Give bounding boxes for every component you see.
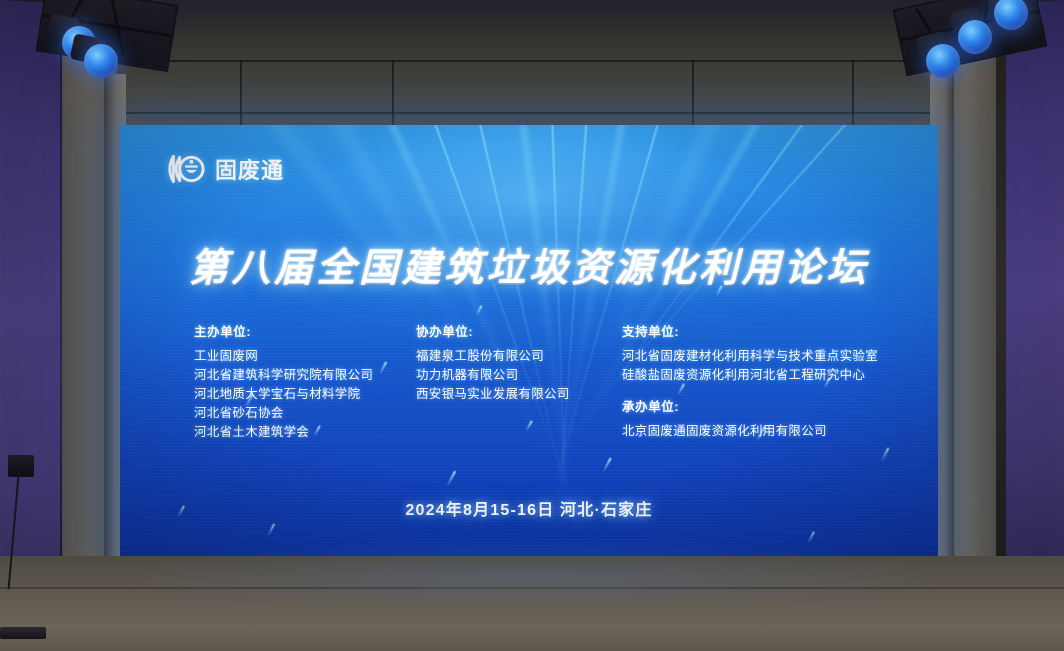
event-logo: 固废通 [164, 151, 284, 187]
column-co-organizers: 协办单位: 福建泉工股份有限公司 功力机器有限公司 西安银马实业发展有限公司 [416, 321, 622, 442]
particle-spark [881, 447, 890, 461]
right-wall [996, 0, 1064, 604]
par-light-left-2 [84, 44, 118, 78]
column-heading: 支持单位: [622, 321, 884, 340]
column-supporters: 支持单位: 河北省固废建材化利用科学与技术重点实验室 硅酸盐固废资源化利用河北省… [622, 321, 884, 442]
column-organizers: 主办单位: 工业固废网 河北省建筑科学研究院有限公司 河北地质大学宝石与材料学院… [194, 321, 416, 442]
list-item: 福建泉工股份有限公司 [416, 347, 622, 366]
list-item: 北京固废通固废资源化利用有限公司 [622, 422, 884, 441]
list-item: 西安银马实业发展有限公司 [416, 385, 622, 404]
floor-equipment [0, 627, 46, 639]
wall-mounted-device [8, 455, 34, 477]
par-light-right-3 [926, 44, 960, 78]
sponsor-columns: 主办单位: 工业固废网 河北省建筑科学研究院有限公司 河北地质大学宝石与材料学院… [194, 321, 884, 442]
list-item: 功力机器有限公司 [416, 366, 622, 385]
led-screen-background: 固废通 第八届全国建筑垃圾资源化利用论坛 主办单位: 工业固废网 河北省建筑科学… [120, 125, 938, 572]
column-heading: 主办单位: [194, 321, 416, 340]
particle-spark [602, 457, 611, 472]
list-item: 河北省固废建材化利用科学与技术重点实验室 [622, 347, 884, 366]
column-heading: 承办单位: [622, 396, 884, 415]
list-item: 河北省建筑科学研究院有限公司 [194, 366, 416, 385]
floor-screen-glow [120, 541, 940, 611]
header-seam [62, 60, 1002, 62]
left-wall [0, 0, 62, 623]
event-date-location: 2024年8月15-16日 河北·石家庄 [120, 496, 938, 520]
list-item: 河北省土木建筑学会 [194, 423, 416, 442]
particle-spark [446, 471, 456, 488]
header-seam [392, 60, 394, 128]
list-item: 硅酸盐固废资源化利用河北省工程研究中心 [622, 366, 884, 385]
list-item: 河北省砂石协会 [194, 404, 416, 423]
conference-hall-photo: 固废通 第八届全国建筑垃圾资源化利用论坛 主办单位: 工业固废网 河北省建筑科学… [0, 0, 1064, 651]
list-item: 河北地质大学宝石与材料学院 [194, 385, 416, 404]
header-seam [852, 60, 854, 128]
list-item: 工业固废网 [194, 347, 416, 366]
header-seam [62, 112, 1002, 114]
event-title: 第八届全国建筑垃圾资源化利用论坛 [120, 237, 938, 293]
column-heading: 协办单位: [416, 321, 622, 340]
logo-text: 固废通 [215, 153, 284, 185]
header-seam [240, 60, 242, 128]
par-light-right-2 [958, 20, 992, 54]
particle-spark [267, 523, 275, 536]
header-seam [692, 60, 694, 128]
gufeitong-circular-logo-mark [164, 151, 208, 187]
far-right-column [996, 0, 1006, 585]
ceiling-header-band [62, 0, 1002, 128]
led-screen: 固废通 第八届全国建筑垃圾资源化利用论坛 主办单位: 工业固废网 河北省建筑科学… [120, 125, 938, 572]
